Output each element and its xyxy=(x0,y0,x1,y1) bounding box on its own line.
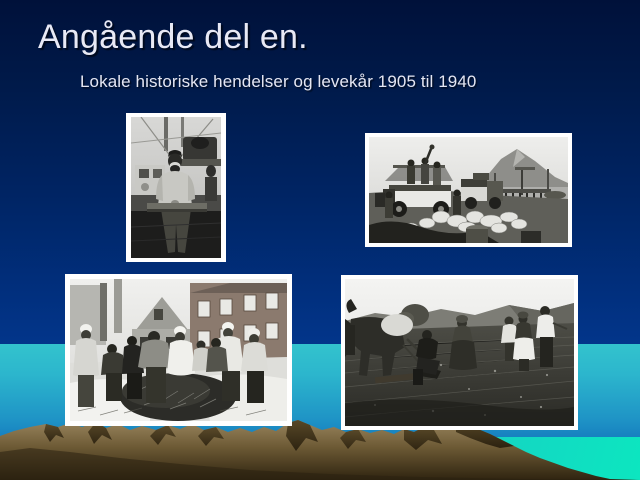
presentation-slide: Angående del en. Lokale historiske hende… xyxy=(0,0,640,480)
fish-processing-photo[interactable] xyxy=(65,274,292,426)
trucks-at-quay-photo[interactable] xyxy=(365,133,572,247)
slide-subtitle: Lokale historiske hendelser og levekår 1… xyxy=(80,72,476,92)
horse-plough-field-photo[interactable] xyxy=(341,275,578,430)
fisherman-on-deck-photo[interactable] xyxy=(126,113,226,262)
slide-title: Angående del en. xyxy=(38,18,308,57)
